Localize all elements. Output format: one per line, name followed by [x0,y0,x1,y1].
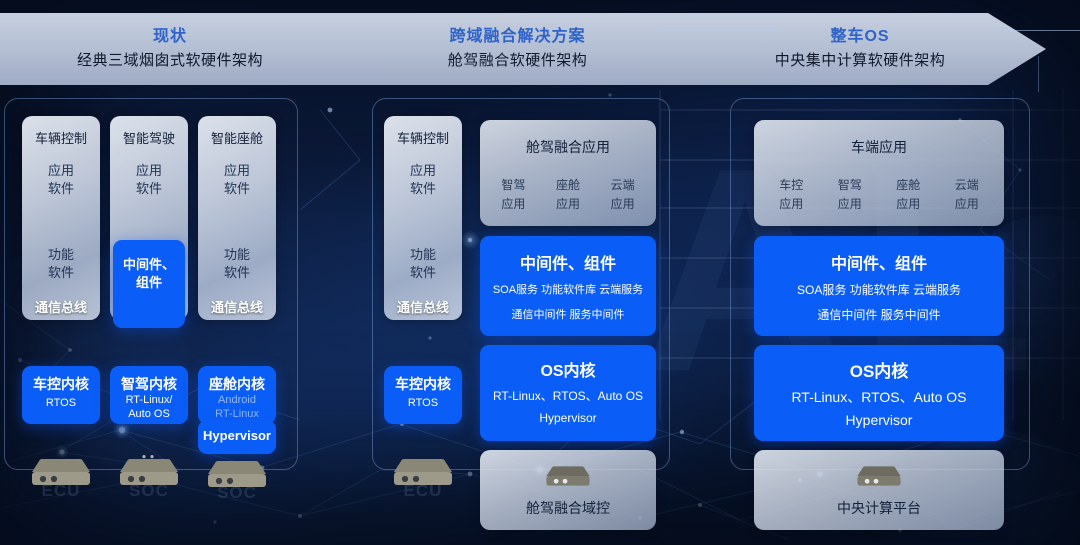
middleware-row2-c3: 通信中间件 服务中间件 [754,306,1004,323]
comm-bus-c1s1: 通信总线 [22,297,100,316]
app-software-line1-c1s3: 应用 [198,160,276,179]
hardware-soc-c1s3: SOC [202,457,272,497]
vehicle-app-4-line1: 云端 [938,176,997,193]
soc-label-c1s2: SOC [114,481,184,501]
banner-decor-line-2 [1004,30,1080,31]
banner-title-2: 跨域融合解决方案 [449,27,585,47]
central-computing-platform-icon [853,462,905,490]
app-software-line2-c1s3: 软件 [198,178,276,197]
stack-header-intelligent-cockpit: 智能座舱 [198,128,276,147]
function-software-line1-c1s1: 功能 [22,244,100,263]
hardware-ecu-c2: ECU [388,455,458,495]
soc-label-c1s3: SOC [202,483,272,503]
banner-subtitle-2: 舱驾融合软硬件架构 [448,51,588,71]
kernel-os-line2-c1s2: Auto OS [110,408,188,420]
kernel-title-c1s2: 智驾内核 [110,374,188,394]
fusion-app-3-line2: 应用 [595,195,650,212]
kernel-card-vehicle-control-c2: 车控内核 RTOS [384,366,462,424]
kernel-os-line1-c1s3: Android [198,394,276,406]
kernel-os-line1-c1s2: RT-Linux/ [110,394,188,406]
fusion-application-items: 智驾 应用 座舱 应用 云端 应用 [486,176,650,212]
fusion-application-title: 舱驾融合应用 [480,137,656,157]
middleware-row1-c2: SOA服务 功能软件库 云端服务 [480,281,656,297]
os-kernel-card-c3: OS内核 RT-Linux、RTOS、Auto OS Hypervisor [754,345,1004,441]
vehicle-app-item-1: 车控 应用 [762,176,821,212]
stack-header-intelligent-driving: 智能驾驶 [110,128,188,147]
fusion-application-card: 舱驾融合应用 智驾 应用 座舱 应用 云端 应用 [480,120,656,226]
vehicle-application-items: 车控 应用 智驾 应用 座舱 应用 云端 应用 [762,176,996,212]
hardware-soc-c1s2: SOC [114,455,184,495]
stack-card-vehicle-control-c2: 车辆控制 应用 软件 功能 软件 通信总线 [384,116,462,320]
function-software-line1-c2: 功能 [384,244,462,263]
kernel-title-c1s3: 座舱内核 [198,374,276,394]
middleware-title-c2: 中间件、组件 [480,250,656,274]
vehicle-app-4-line2: 应用 [938,195,997,212]
banner-subtitle-1: 经典三域烟囱式软硬件架构 [77,51,263,71]
stack-header-vehicle-control-c2: 车辆控制 [384,128,462,147]
app-software-line1-c1s2: 应用 [110,160,188,179]
middleware-card-c1s2: 中间件、 组件 [113,240,185,328]
kernel-os-c1s1: RTOS [22,397,100,409]
middleware-row1-c3: SOA服务 功能软件库 云端服务 [754,281,1004,298]
kernel-card-intelligent-driving: 智驾内核 RT-Linux/ Auto OS [110,366,188,424]
fusion-app-1-line1: 智驾 [486,176,541,193]
vehicle-app-2-line2: 应用 [821,195,880,212]
comm-bus-c1s3: 通信总线 [198,297,276,316]
stack-card-vehicle-control: 车辆控制 应用 软件 功能 软件 通信总线 [22,116,100,320]
middleware-card-c3: 中间件、组件 SOA服务 功能软件库 云端服务 通信中间件 服务中间件 [754,236,1004,336]
hypervisor-card-c1s3: Hypervisor [198,420,276,454]
function-software-line2-c1s3: 软件 [198,262,276,281]
vehicle-app-1-line1: 车控 [762,176,821,193]
vehicle-app-item-2: 智驾 应用 [821,176,880,212]
banner-sections: 现状 经典三域烟囱式软硬件架构 跨域融合解决方案 舱驾融合软硬件架构 整车OS … [0,13,1046,85]
middleware-card-c2: 中间件、组件 SOA服务 功能软件库 云端服务 通信中间件 服务中间件 [480,236,656,336]
hardware-label-c3: 中央计算平台 [754,498,1004,518]
banner-section-crossdomain: 跨域融合解决方案 舱驾融合软硬件架构 [340,13,695,85]
app-software-line1-c2: 应用 [384,160,462,179]
ecu-label-c2: ECU [388,481,458,501]
banner-section-vehicleos: 整车OS 中央集中计算软硬件架构 [695,13,1025,85]
fusion-app-3-line1: 云端 [595,176,650,193]
vehicle-app-3-line2: 应用 [879,195,938,212]
function-software-line1-c1s3: 功能 [198,244,276,263]
fusion-app-item-3: 云端 应用 [595,176,650,212]
middleware-row2-c2: 通信中间件 服务中间件 [480,306,656,322]
comm-bus-c2: 通信总线 [384,297,462,316]
vehicle-app-item-4: 云端 应用 [938,176,997,212]
function-software-line2-c2: 软件 [384,262,462,281]
banner-title-3: 整车OS [830,27,889,47]
os-kernel-row2-c2: Hypervisor [480,411,656,425]
os-kernel-row2-c3: Hypervisor [754,412,1004,428]
app-software-line2-c1s1: 软件 [22,178,100,197]
middleware-line1-c1s2: 中间件、 [113,254,185,273]
app-software-line2-c2: 软件 [384,178,462,197]
hypervisor-label-c1s3: Hypervisor [198,428,276,443]
vehicle-app-3-line1: 座舱 [879,176,938,193]
banner-title-1: 现状 [153,27,187,47]
os-kernel-card-c2: OS内核 RT-Linux、RTOS、Auto OS Hypervisor [480,345,656,441]
kernel-title-c1s1: 车控内核 [22,374,100,394]
kernel-card-vehicle-control: 车控内核 RTOS [22,366,100,424]
kernel-card-cockpit: 座舱内核 Android RT-Linux [198,366,276,424]
os-kernel-title-c3: OS内核 [754,357,1004,382]
banner-decor-line-3 [1038,56,1039,92]
fusion-app-2-line2: 应用 [541,195,596,212]
stack-card-intelligent-cockpit: 智能座舱 应用 软件 功能 软件 通信总线 [198,116,276,320]
middleware-line2-c1s2: 组件 [113,272,185,291]
hardware-card-c3: 中央计算平台 [754,450,1004,530]
vehicle-app-1-line2: 应用 [762,195,821,212]
fusion-app-item-2: 座舱 应用 [541,176,596,212]
vehicle-application-title: 车端应用 [754,137,1004,157]
hardware-ecu-c1s1: ECU [26,455,96,495]
app-software-line2-c1s2: 软件 [110,178,188,197]
banner-decor-line-1 [660,30,778,31]
fusion-app-2-line1: 座舱 [541,176,596,193]
vehicle-application-card: 车端应用 车控 应用 智驾 应用 座舱 应用 云端 应用 [754,120,1004,226]
hardware-card-c2: 舱驾融合域控 [480,450,656,530]
stack-header-vehicle-control: 车辆控制 [22,128,100,147]
vehicle-app-2-line1: 智驾 [821,176,880,193]
ecu-label-c1s1: ECU [26,481,96,501]
kernel-title-c2: 车控内核 [384,374,462,394]
phase-banner: 现状 经典三域烟囱式软硬件架构 跨域融合解决方案 舱驾融合软硬件架构 整车OS … [0,13,1046,85]
kernel-os-line2-c1s3: RT-Linux [198,408,276,420]
banner-subtitle-3: 中央集中计算软硬件架构 [775,51,946,71]
architecture-diagram: AL [0,0,1080,545]
banner-section-current: 现状 经典三域烟囱式软硬件架构 [0,13,340,85]
fusion-app-1-line2: 应用 [486,195,541,212]
kernel-os-c2: RTOS [384,397,462,409]
function-software-line2-c1s1: 软件 [22,262,100,281]
middleware-title-c3: 中间件、组件 [754,250,1004,274]
os-kernel-row1-c3: RT-Linux、RTOS、Auto OS [754,387,1004,407]
hardware-label-c2: 舱驾融合域控 [480,498,656,518]
app-software-line1-c1s1: 应用 [22,160,100,179]
vehicle-app-item-3: 座舱 应用 [879,176,938,212]
fusion-app-item-1: 智驾 应用 [486,176,541,212]
domain-controller-icon [542,462,594,490]
os-kernel-row1-c2: RT-Linux、RTOS、Auto OS [480,387,656,404]
os-kernel-title-c2: OS内核 [480,357,656,381]
